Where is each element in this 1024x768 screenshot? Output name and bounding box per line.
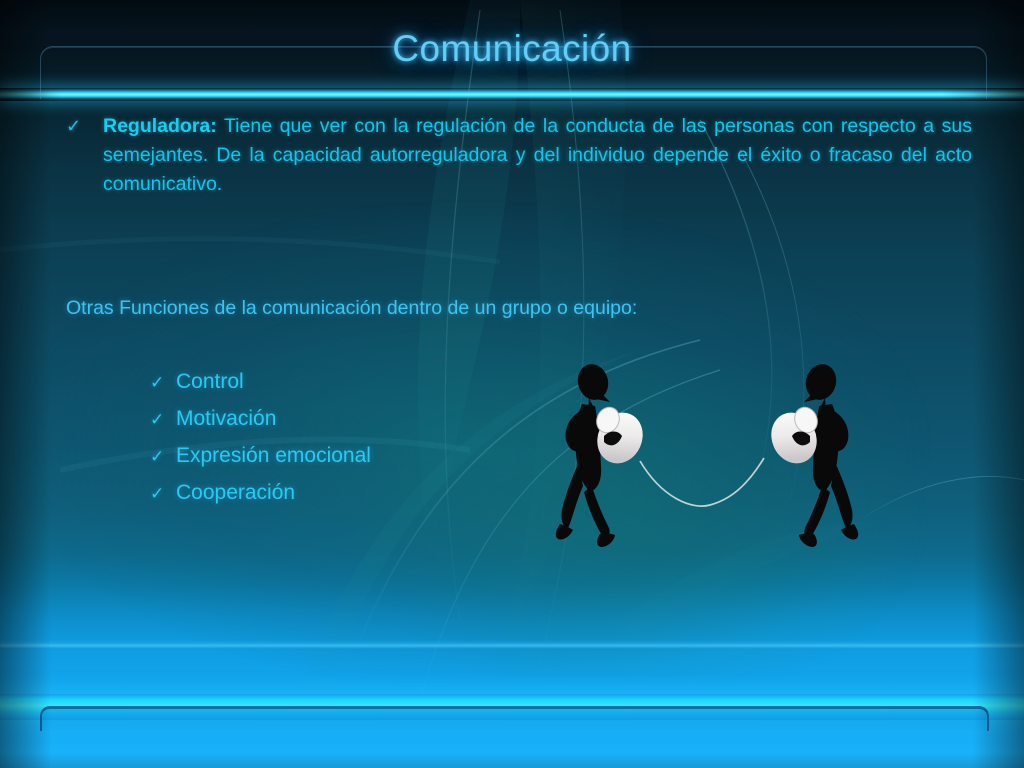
checkmark-icon: ✓ xyxy=(150,476,176,512)
list-item: ✓ Control xyxy=(150,364,570,401)
list-item: ✓ Cooperación xyxy=(150,475,570,512)
tin-can-phone-illustration xyxy=(552,358,862,583)
checkmark-icon: ✓ xyxy=(150,365,176,401)
presentation-slide: Comunicación ✓ Reguladora: Tiene que ver… xyxy=(0,0,1024,768)
paragraph-body-text: Tiene que ver con la regulación de la co… xyxy=(103,115,972,195)
list-item-label: Motivación xyxy=(176,401,276,437)
paragraph-block: ✓ Reguladora: Tiene que ver con la regul… xyxy=(66,112,972,199)
checkmark-icon: ✓ xyxy=(66,112,103,141)
list-item: ✓ Expresión emocional xyxy=(150,438,570,475)
checkmark-icon: ✓ xyxy=(150,402,176,438)
paragraph-row: ✓ Reguladora: Tiene que ver con la regul… xyxy=(66,112,972,199)
list-item: ✓ Motivación xyxy=(150,401,570,438)
list-item-label: Cooperación xyxy=(176,475,295,511)
accent-band-lower xyxy=(0,640,1024,650)
slide-frame-bottom xyxy=(40,706,989,731)
bullet-list: ✓ Control ✓ Motivación ✓ Expresión emoci… xyxy=(150,364,570,512)
list-item-label: Control xyxy=(176,364,244,400)
checkmark-icon: ✓ xyxy=(150,439,176,475)
paragraph-text: Reguladora: Tiene que ver con la regulac… xyxy=(103,112,972,199)
slide-title: Comunicación xyxy=(0,28,1024,70)
tin-can-phone-figures-icon xyxy=(552,358,862,583)
list-item-label: Expresión emocional xyxy=(176,438,371,474)
paragraph-lead-label: Reguladora: xyxy=(103,115,217,137)
subheading-text: Otras Funciones de la comunicación dentr… xyxy=(66,294,966,322)
